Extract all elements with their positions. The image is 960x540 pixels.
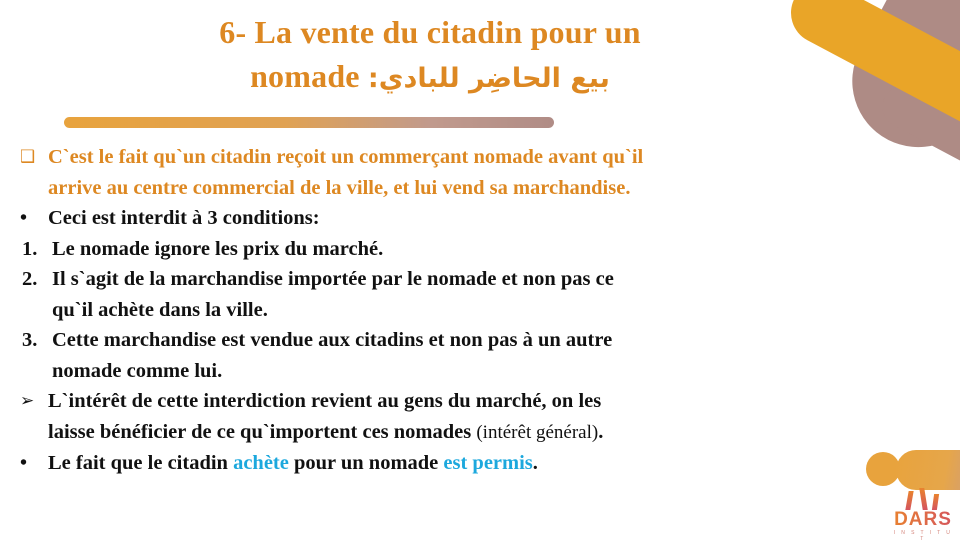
- title-underline-bar: [64, 117, 554, 128]
- arrow-bullet-icon: ➢: [20, 386, 46, 417]
- conditions-header: • Ceci est interdit à 3 conditions:: [0, 203, 960, 234]
- intro-text-line-1: C`est le fait qu`un citadin reçoit un co…: [20, 142, 946, 173]
- slide-canvas: 6- La vente du citadin pour un nomade بي…: [0, 0, 960, 540]
- permitted-text-part-c: .: [533, 452, 538, 474]
- logo-subtitle: I N S T I T U T: [890, 530, 956, 540]
- interest-text-line-1: L`intérêt de cette interdiction revient …: [20, 386, 946, 417]
- title-line-2-french: nomade: [250, 58, 360, 94]
- slide-title: 6- La vente du citadin pour un nomade بي…: [70, 10, 790, 101]
- square-bullet-icon: ❑: [20, 142, 46, 173]
- slide-body: ❑ C`est le fait qu`un citadin reçoit un …: [0, 142, 960, 479]
- title-line-1: 6- La vente du citadin pour un: [70, 10, 790, 54]
- permitted-text: Le fait que le citadin achète pour un no…: [20, 448, 946, 479]
- logo-bar-1: [905, 491, 913, 510]
- dot-bullet-icon: •: [20, 203, 46, 234]
- logo-name: DARS: [890, 510, 956, 529]
- title-line-2-arabic: بيع الحاضِر للبادي:: [368, 63, 610, 94]
- permitted-text-part-b: pour un nomade: [289, 452, 444, 474]
- condition-text-3-line-1: Cette marchandise est vendue aux citadin…: [20, 325, 946, 356]
- permitted-text-part-a: Le fait que le citadin: [48, 452, 233, 474]
- logo-mark-icon: [890, 488, 956, 510]
- condition-number-3: 3.: [22, 325, 52, 356]
- condition-item-3: 3. Cette marchandise est vendue aux cita…: [0, 325, 960, 386]
- intro-paragraph: ❑ C`est le fait qu`un citadin reçoit un …: [0, 142, 960, 203]
- logo-bar-3: [932, 494, 939, 510]
- permitted-highlight-achete: achète: [233, 452, 289, 474]
- condition-item-1: 1. Le nomade ignore les prix du marché.: [0, 234, 960, 265]
- title-line-2: nomade بيع الحاضِر للبادي:: [70, 54, 790, 101]
- interest-text-line-2: laisse bénéficier de ce qu`importent ces…: [20, 417, 946, 449]
- interest-parenthetical: (intérêt général): [476, 422, 598, 443]
- condition-number-1: 1.: [22, 234, 52, 265]
- condition-item-2: 2. Il s`agit de la marchandise importée …: [0, 264, 960, 325]
- condition-text-2-line-1: Il s`agit de la marchandise importée par…: [20, 264, 946, 295]
- intro-text-line-2: arrive au centre commercial de la ville,…: [20, 173, 946, 204]
- decoration-orange-bar-shape: [780, 0, 960, 143]
- permitted-highlight-est-permis: est permis: [443, 452, 532, 474]
- condition-text-2-line-2: qu`il achète dans la ville.: [20, 295, 946, 326]
- condition-text-3-line-2: nomade comme lui.: [20, 356, 946, 387]
- interest-paragraph: ➢ L`intérêt de cette interdiction revien…: [0, 386, 960, 448]
- interest-text-line-2-main: laisse bénéficier de ce qu`importent ces…: [48, 421, 476, 443]
- interest-text-line-2-end: .: [598, 421, 603, 443]
- condition-text-1-line-1: Le nomade ignore les prix du marché.: [20, 234, 946, 265]
- dot-bullet-icon-2: •: [20, 448, 46, 479]
- dars-institut-logo: DARS I N S T I T U T: [890, 488, 956, 536]
- condition-number-2: 2.: [22, 264, 52, 295]
- logo-bar-2: [919, 488, 927, 510]
- conditions-header-text: Ceci est interdit à 3 conditions:: [20, 203, 946, 234]
- permitted-statement: • Le fait que le citadin achète pour un …: [0, 448, 960, 479]
